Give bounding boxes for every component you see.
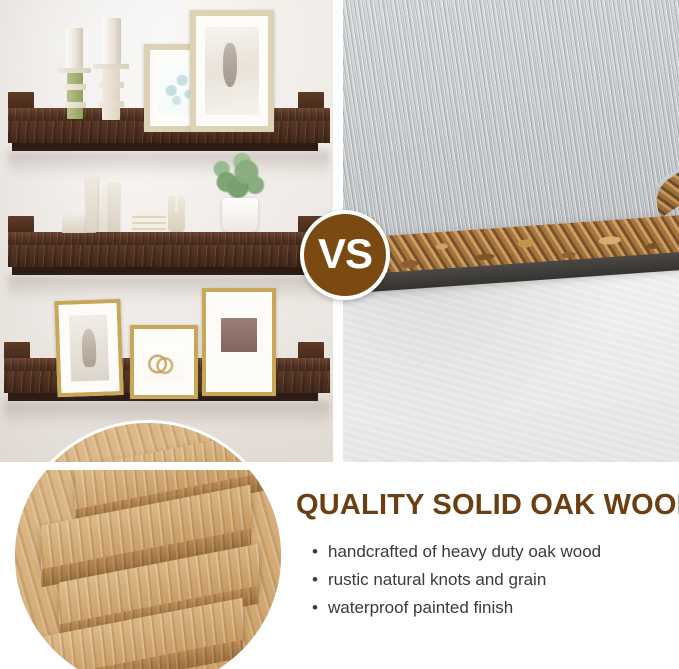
deco-riser bbox=[132, 212, 166, 232]
feature-bullet-item: waterproof painted finish bbox=[312, 594, 671, 622]
shelf-drop-shadow bbox=[8, 151, 330, 177]
feature-text-block: QUALITY SOLID OAK WOOD handcrafted of he… bbox=[296, 490, 671, 621]
gold-family-photo-frame bbox=[202, 288, 276, 396]
feature-bullet-item: rustic natural knots and grain bbox=[312, 566, 671, 594]
shelf-board-underside bbox=[12, 267, 318, 275]
feature-bullet-list: handcrafted of heavy duty oak wood rusti… bbox=[312, 538, 671, 621]
shelf-board-underside bbox=[12, 143, 318, 151]
particle-board-photo bbox=[343, 0, 679, 468]
sculptural-vase bbox=[168, 196, 185, 232]
comparison-section: VS bbox=[0, 0, 679, 468]
green-candle-holder-seg-5 bbox=[67, 108, 83, 119]
cream-portrait-frame bbox=[190, 10, 274, 132]
cream-candle-holder-seg-3 bbox=[102, 88, 120, 101]
shelf-drop-shadow bbox=[8, 275, 330, 301]
gold-line-art-frame bbox=[130, 325, 198, 399]
cream-candle-holder-seg-5 bbox=[102, 107, 120, 120]
shelf-board-top bbox=[8, 232, 330, 245]
cream-candle-holder-seg-1 bbox=[102, 69, 120, 82]
panel-divider-horizontal bbox=[0, 462, 679, 470]
white-planter bbox=[222, 198, 258, 232]
vs-badge: VS bbox=[300, 210, 390, 300]
book-1 bbox=[86, 176, 99, 232]
planter-greenery bbox=[208, 152, 270, 202]
feature-section: QUALITY SOLID OAK WOOD handcrafted of he… bbox=[0, 468, 679, 669]
vs-badge-label: VS bbox=[318, 233, 372, 277]
oak-planks-circle-photo bbox=[12, 420, 284, 669]
feature-headline: QUALITY SOLID OAK WOOD bbox=[296, 490, 671, 520]
line-art-artwork bbox=[144, 342, 185, 380]
solid-oak-shelves-photo bbox=[0, 0, 333, 468]
portrait-artwork bbox=[205, 27, 260, 115]
feature-bullet-item: handcrafted of heavy duty oak wood bbox=[312, 538, 671, 566]
book-3 bbox=[109, 183, 120, 232]
middle-shelf bbox=[8, 232, 330, 302]
tall-pillar-candle bbox=[102, 18, 121, 64]
green-candle-holder-seg-3 bbox=[67, 90, 83, 102]
book-2 bbox=[99, 180, 109, 232]
green-candle-holder-seg-1 bbox=[67, 73, 83, 84]
figure-artwork bbox=[69, 314, 108, 382]
family-photo-artwork bbox=[221, 318, 258, 352]
pillar-candle bbox=[66, 28, 83, 68]
gold-portrait-frame bbox=[54, 299, 123, 397]
shelf-board-face bbox=[8, 245, 330, 267]
product-comparison-infographic: VS QUALITY SOLID OAK WOOD handcrafted of… bbox=[0, 0, 679, 669]
